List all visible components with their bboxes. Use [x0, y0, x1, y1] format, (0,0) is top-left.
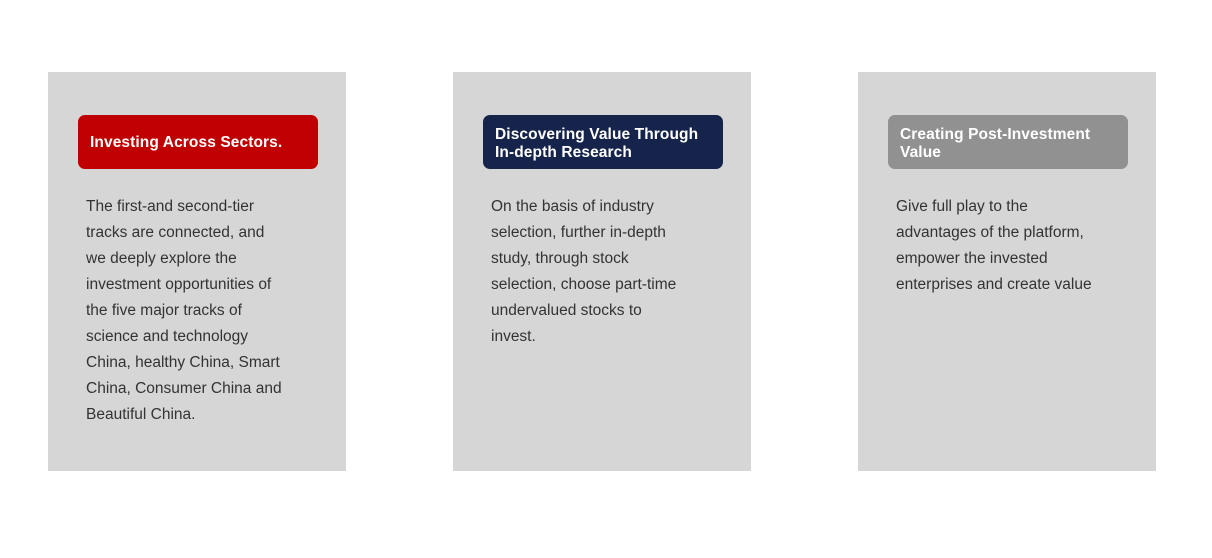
- card-body-text: The first-and second-tier tracks are con…: [86, 194, 324, 428]
- card-body-text: On the basis of industry selection, furt…: [491, 194, 729, 350]
- card-creating-post-investment-value: Creating Post-Investment Value Give full…: [858, 72, 1156, 471]
- card-title: Investing Across Sectors.: [90, 126, 306, 152]
- card-title: Creating Post-Investment Value: [900, 126, 1116, 162]
- card-header-banner: Investing Across Sectors.: [78, 115, 318, 169]
- card-header-banner: Creating Post-Investment Value: [888, 115, 1128, 169]
- card-discovering-value-through-in-depth-research: Discovering Value Through In-depth Resea…: [453, 72, 751, 471]
- card-body-text: Give full play to the advantages of the …: [896, 194, 1134, 298]
- card-investing-across-sectors: Investing Across Sectors. The first-and …: [48, 72, 346, 471]
- card-title: Discovering Value Through In-depth Resea…: [495, 126, 711, 162]
- cards-board: Investing Across Sectors. The first-and …: [0, 0, 1212, 558]
- card-header-banner: Discovering Value Through In-depth Resea…: [483, 115, 723, 169]
